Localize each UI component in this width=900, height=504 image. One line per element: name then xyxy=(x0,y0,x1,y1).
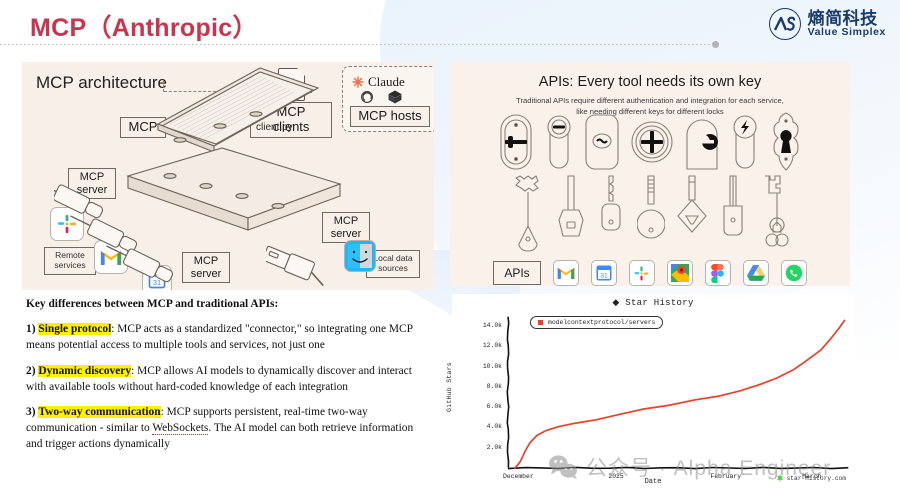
item-2-number: 2) xyxy=(26,365,36,377)
locks-row xyxy=(458,112,842,172)
lock-ornate-keyhole-icon xyxy=(769,112,803,172)
brand-logo: 熵简科技 Value Simplex xyxy=(769,8,886,40)
svg-text:31: 31 xyxy=(600,273,608,280)
lock-arch-icon xyxy=(683,113,721,171)
google-drive-icon xyxy=(743,260,769,286)
watermark: 公众号 · Alpha Engineer xyxy=(548,452,831,482)
item-3-number: 3) xyxy=(26,406,36,418)
lock-cylinder-icon xyxy=(545,113,573,171)
lock-oval-icon xyxy=(497,113,535,171)
lock-round-cross-icon xyxy=(631,113,673,171)
cable-connectors-illustration xyxy=(54,182,254,290)
key-difference-item-2: 2) Dynamic discovery: MCP allows AI mode… xyxy=(26,363,430,395)
google-maps-icon xyxy=(667,260,693,286)
key-round-head-icon xyxy=(637,174,665,254)
key-antique-icon xyxy=(759,174,789,254)
api-panel: APIs: Every tool needs its own key Tradi… xyxy=(450,62,850,286)
wechat-icon xyxy=(548,454,578,480)
slide-header: MCP（Anthropic） 熵简科技 Value Simplex xyxy=(0,0,900,56)
lock-rounded-square-icon xyxy=(583,113,621,171)
watermark-text: 公众号 · Alpha Engineer xyxy=(586,452,831,482)
item-3-spellcheck-word: WebSockets xyxy=(152,422,208,435)
key-toothed-icon xyxy=(597,174,625,254)
keys-row xyxy=(458,174,842,256)
header-divider-dot xyxy=(712,41,719,48)
api-panel-title: APIs: Every tool needs its own key xyxy=(450,74,850,90)
apis-chip: APIs xyxy=(493,261,540,285)
google-calendar-icon: 31 xyxy=(591,260,617,286)
key-skeleton-icon xyxy=(511,174,545,254)
key-difference-item-3: 3) Two-way communication: MCP supports p… xyxy=(26,404,430,453)
item-2-term: Dynamic discovery xyxy=(38,365,131,377)
logo-mark-icon xyxy=(769,8,801,40)
chart-y-axis xyxy=(507,317,508,468)
item-1-term: Single protocol xyxy=(38,323,111,335)
slack-icon xyxy=(629,260,655,286)
item-1-number: 1) xyxy=(26,323,36,335)
key-difference-item-1: 1) Single protocol: MCP acts as a standa… xyxy=(26,321,430,353)
key-hex-head-icon xyxy=(557,174,585,254)
whatsapp-icon xyxy=(781,260,807,286)
key-diamond-head-icon xyxy=(677,174,707,254)
brand-name-en: Value Simplex xyxy=(808,27,886,38)
page-title: MCP（Anthropic） xyxy=(30,8,258,44)
mcp-architecture-panel: MCP architecture xyxy=(22,62,434,290)
brand-name-cn: 熵简科技 xyxy=(808,10,886,28)
figma-icon xyxy=(705,260,731,286)
header-divider xyxy=(0,44,716,45)
api-brands-row: APIs 31 xyxy=(462,258,838,286)
chart-series-line xyxy=(515,320,845,468)
item-3-term: Two-way communication xyxy=(38,406,160,418)
usb-cable-illustration xyxy=(266,240,386,290)
key-differences-heading: Key differences between MCP and traditio… xyxy=(26,296,430,312)
key-differences-text: Key differences between MCP and traditio… xyxy=(26,296,430,462)
gmail-icon xyxy=(553,260,579,286)
key-tubular-icon xyxy=(719,174,747,254)
lock-euro-cylinder-icon xyxy=(731,113,759,171)
